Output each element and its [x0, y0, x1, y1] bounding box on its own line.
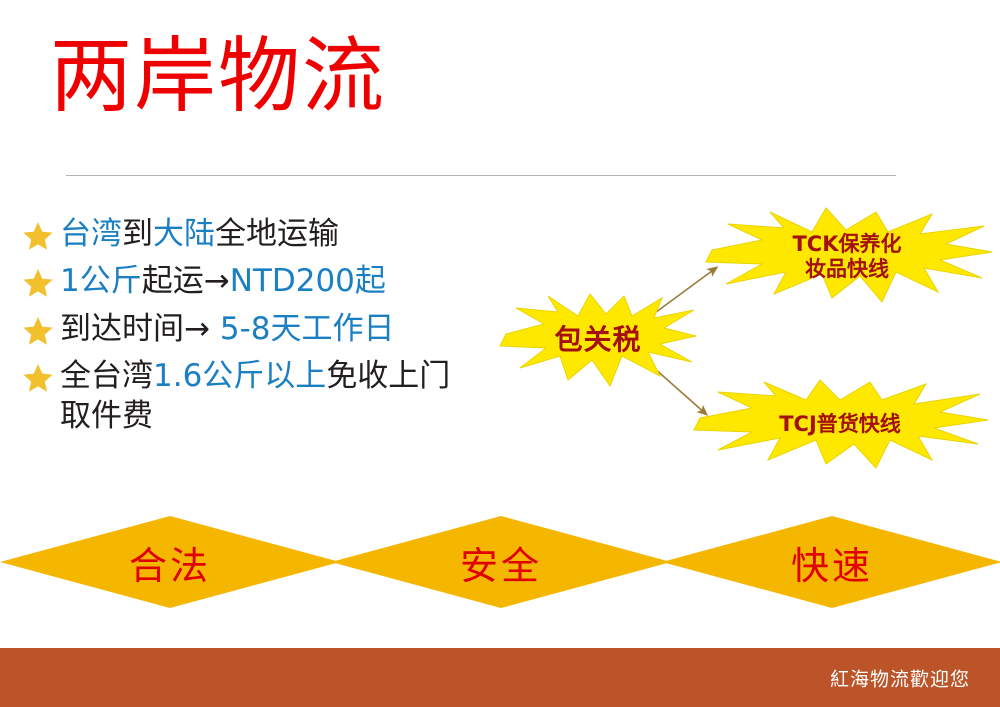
footer-bar: 紅海物流歡迎您 — [0, 648, 1000, 707]
list-item: 台湾到大陆全地运输 — [22, 214, 622, 254]
value-banner-label: 快速 — [662, 516, 1000, 608]
list-item-label: 1公斤起运→NTD200起 — [60, 261, 386, 301]
segment-text: 1.6公斤以上 — [153, 358, 326, 394]
star-icon — [22, 315, 56, 349]
segment-text: 到达时间→ — [60, 311, 220, 347]
segment-text: 起运→ — [142, 263, 230, 299]
starburst-tax-included: 包关税 — [498, 292, 698, 388]
title-divider — [66, 175, 896, 176]
starburst-tcj: TCJ普货快线 — [690, 378, 990, 470]
page-title: 两岸物流 — [50, 36, 386, 118]
segment-text: NTD200起 — [230, 263, 386, 299]
value-banner-label: 安全 — [331, 516, 671, 608]
slide-canvas: 两岸物流 台湾到大陆全地运输 1公斤起运→NTD200起 — [0, 0, 1000, 707]
value-banner-row: 合法 安全 快速 — [0, 516, 1000, 608]
starburst-tck: TCK保养化 妆品快线 — [700, 206, 994, 308]
list-item-label: 台湾到大陆全地运输 — [60, 214, 339, 254]
star-icon — [22, 362, 56, 396]
star-icon — [22, 220, 56, 254]
value-banner: 快速 — [662, 516, 1000, 608]
segment-text: 大陆 — [153, 216, 215, 252]
value-banner-label: 合法 — [0, 516, 340, 608]
list-item-label: 到达时间→ 5-8天工作日 — [60, 309, 394, 349]
value-banner: 安全 — [331, 516, 671, 608]
footer-text: 紅海物流歡迎您 — [830, 664, 970, 691]
segment-text: 5-8天工作日 — [220, 311, 395, 347]
segment-text: 台湾 — [60, 216, 122, 252]
segment-text: 全台湾 — [60, 358, 153, 394]
list-item-label: 全台湾1.6公斤以上免收上门 取件费 — [60, 356, 450, 437]
segment-text: 1公斤 — [60, 263, 142, 299]
star-icon — [22, 267, 56, 301]
value-banner: 合法 — [0, 516, 340, 608]
segment-text: 到 — [122, 216, 153, 252]
segment-text: 全地运输 — [215, 216, 339, 252]
